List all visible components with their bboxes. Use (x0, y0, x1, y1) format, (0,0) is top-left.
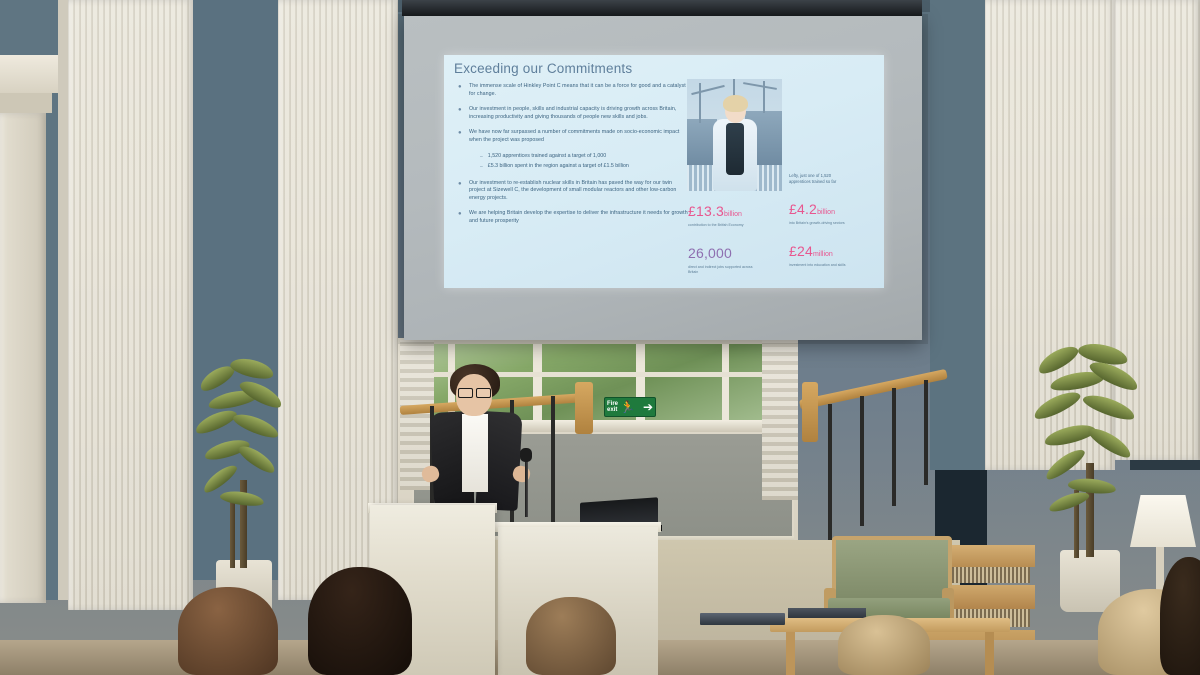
bullet-text: The immense scale of Hinkley Point C mea… (469, 83, 688, 98)
handrail-post-right (802, 382, 818, 442)
stat-block: 26,000 direct and indirect jobs supporte… (688, 245, 762, 275)
bullet-dot-icon: ● (458, 83, 464, 98)
bullet-item: ● Our investment to re-establish nuclear… (458, 180, 688, 203)
bullet-text: Our investment to re-establish nuclear s… (469, 180, 688, 203)
photo-caption: Lefty, just one of 1,520 apprentices tra… (789, 173, 839, 184)
slide-title: Exceeding our Commitments (454, 61, 632, 76)
bullet-dot-icon: ● (458, 210, 464, 225)
fire-exit-line2: exit (607, 407, 618, 413)
stat-number: £4.2 (789, 201, 817, 217)
dash-icon: – (480, 153, 483, 161)
projection-screen: Exceeding our Commitments ● The immense … (404, 14, 922, 340)
stat-block: £13.3billion contribution to the British… (688, 203, 762, 228)
carved-stone-panel-right (762, 340, 798, 500)
slide-bullet-list: ● The immense scale of Hinkley Point C m… (458, 83, 688, 234)
stat-block: £24million investment into education and… (789, 243, 863, 268)
white-shirt (462, 414, 488, 492)
bullet-text: We have now far surpassed a number of co… (469, 129, 688, 144)
stat-caption: into Britain's growth-driving sectors (789, 221, 863, 226)
stat-value-row: 26,000 (688, 245, 762, 263)
pilaster-far-left (0, 113, 46, 603)
stat-number: £24 (789, 243, 813, 259)
stat-value-row: £13.3billion (688, 203, 762, 221)
fire-exit-sign: Fire exit 🏃 ➔ (604, 397, 656, 417)
glasses-icon (458, 388, 490, 396)
dash-icon: – (480, 163, 483, 171)
bullet-item: ● The immense scale of Hinkley Point C m… (458, 83, 688, 98)
cornice-left (0, 55, 58, 93)
list-item (520, 595, 620, 675)
wall-panel-right (930, 0, 985, 470)
stat-caption: contribution to the British Economy (688, 223, 762, 228)
stat-unit: million (813, 251, 833, 258)
stat-value-row: £4.2billion (789, 201, 863, 219)
window-mullion (722, 344, 729, 424)
bullet-dot-icon: ● (458, 129, 464, 144)
baluster (892, 388, 896, 506)
sub-bullet-item: – £5.3 billion spent in the region again… (480, 163, 688, 171)
stat-caption: direct and indirect jobs supported acros… (688, 265, 762, 275)
stat-caption: investment into education and skills (789, 263, 863, 268)
bullet-item: ● We have now far surpassed a number of … (458, 129, 688, 144)
sub-bullet-text: 1,520 apprentices trained against a targ… (488, 153, 606, 161)
presentation-photo-scene: Fire exit 🏃 ➔ (0, 0, 1200, 675)
book-on-stage (700, 613, 785, 625)
baluster (551, 396, 555, 526)
table-lamp-shade (1130, 495, 1196, 547)
microphone-head (520, 448, 532, 462)
baluster (828, 404, 832, 544)
list-item (168, 585, 288, 675)
green-armchair-back (832, 536, 952, 606)
pilaster-edge-1 (58, 0, 68, 600)
bullet-item: ● Our investment in people, skills and i… (458, 106, 688, 121)
arrow-right-icon: ➔ (643, 400, 653, 414)
stat-number: £13.3 (688, 203, 724, 219)
stat-unit: billion (817, 209, 835, 216)
microphone-stem (525, 455, 528, 517)
pilaster-2 (68, 0, 193, 610)
presentation-slide: Exceeding our Commitments ● The immense … (444, 55, 884, 288)
bullet-item: ● We are helping Britain develop the exp… (458, 210, 688, 225)
sub-bullet-item: – 1,520 apprentices trained against a ta… (480, 153, 688, 161)
stat-block: £4.2billion into Britain's growth-drivin… (789, 201, 863, 226)
baluster (860, 396, 864, 526)
list-item (1160, 555, 1200, 675)
cornice-left-lower (0, 93, 52, 113)
slide-photo-apprentice (687, 79, 782, 191)
bullet-dot-icon: ● (458, 180, 464, 203)
stat-value-row: £24million (789, 243, 863, 261)
handrail-post-center (575, 382, 593, 434)
bullet-text: We are helping Britain develop the exper… (469, 210, 688, 225)
baluster (924, 380, 928, 485)
running-man-icon: 🏃 (620, 400, 635, 414)
table-leg (985, 632, 994, 675)
potted-plant-right (1030, 345, 1160, 615)
sub-bullet-text: £5.3 billion spent in the region against… (488, 163, 629, 171)
projector-screen-housing (402, 0, 922, 16)
bullet-dot-icon: ● (458, 106, 464, 121)
stat-number: 26,000 (688, 245, 732, 261)
bullet-text: Our investment in people, skills and ind… (469, 106, 688, 121)
list-item (300, 565, 420, 675)
table-leg (786, 632, 795, 675)
stat-unit: billion (724, 211, 742, 218)
list-item (830, 613, 940, 675)
potted-plant-left (190, 360, 300, 620)
